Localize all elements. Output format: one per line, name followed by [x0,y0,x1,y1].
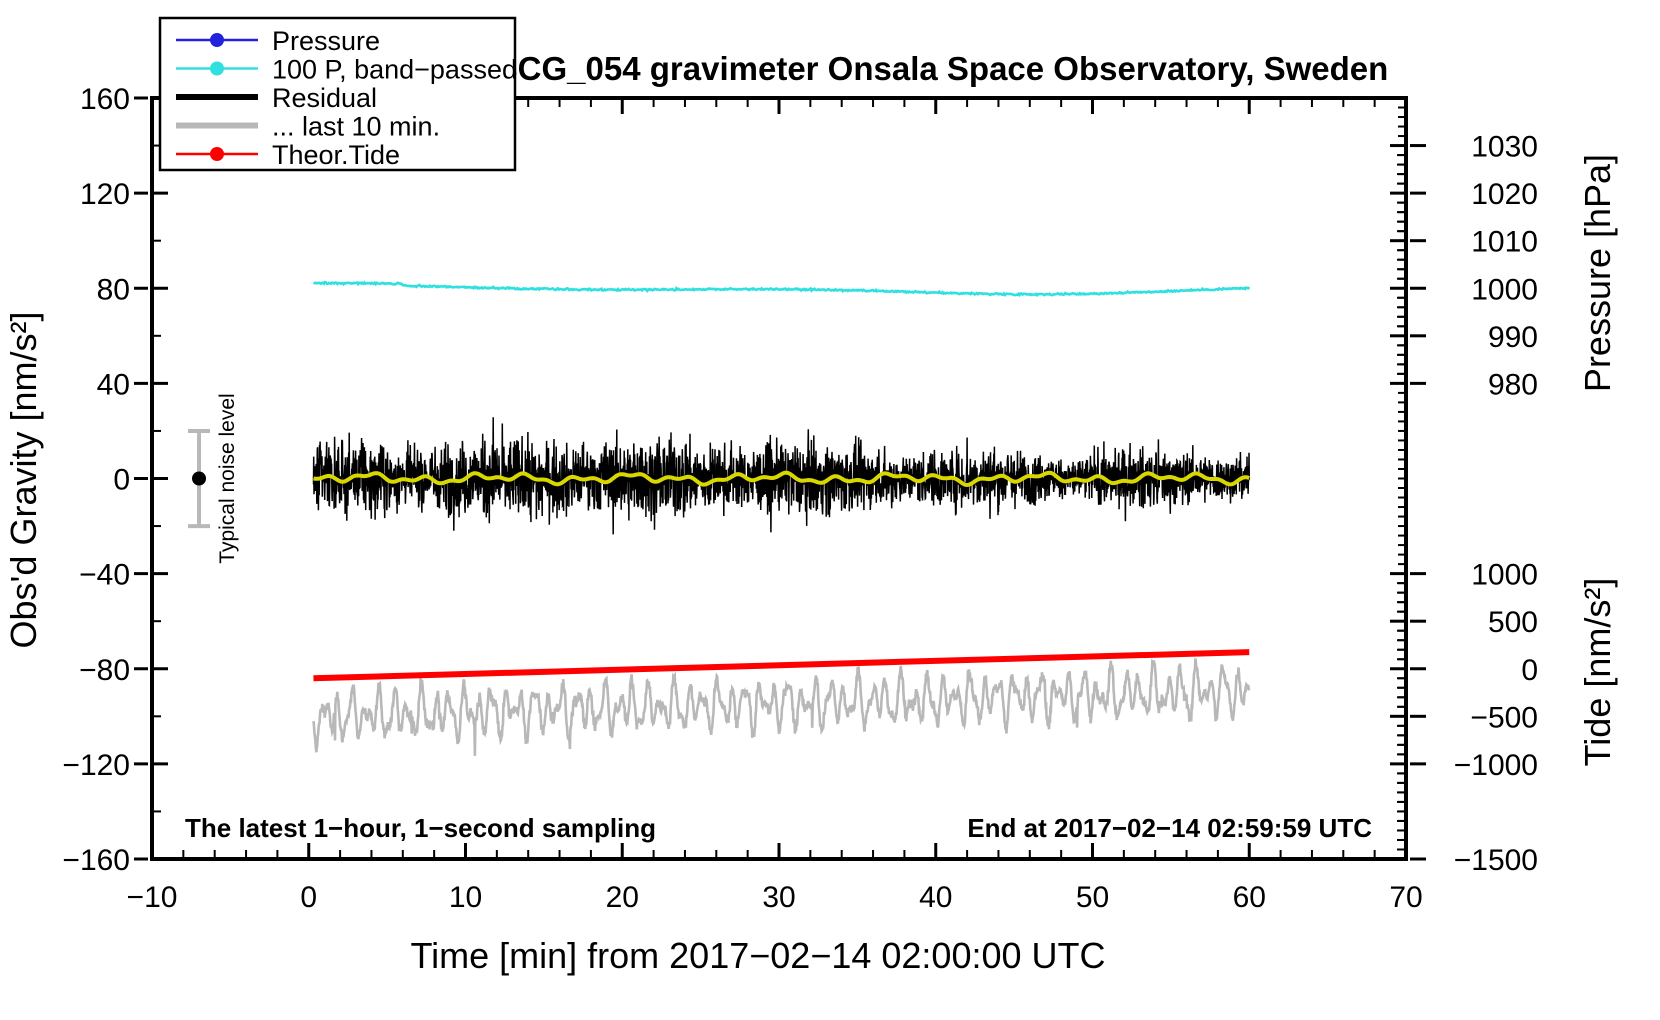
x-tick-label: 30 [762,881,795,914]
y-tick-label: 120 [80,178,130,211]
y-axis-title: Obs'd Gravity [nm/s²] [3,312,44,649]
x-tick-label: −10 [127,881,178,914]
y-tick-label: 160 [80,83,130,116]
legend-marker [210,147,224,161]
x-tick-label: 70 [1389,881,1422,914]
end-time-note: End at 2017−02−14 02:59:59 UTC [967,813,1372,843]
y-tick-label: 40 [97,368,130,401]
noise-center-dot [192,472,206,486]
legend-marker [210,62,224,76]
x-axis-title: Time [min] from 2017−02−14 02:00:00 UTC [410,935,1105,976]
gravimeter-chart-figure: −10010203040506070 16012080400−40−80−120… [0,0,1660,1020]
tide-tick-label: 500 [1488,606,1538,639]
tide-tick-label: 1000 [1471,559,1538,592]
x-tick-label: 20 [606,881,639,914]
pressure-tick-label: 1010 [1471,226,1538,259]
legend-label: 100 P, band−passed [272,55,517,85]
tide-tick-label: −500 [1470,701,1538,734]
y-axis-tick-labels: 16012080400−40−80−120−160 [62,83,130,877]
x-tick-label: 40 [919,881,952,914]
legend-marker [210,33,224,47]
legend-label: Pressure [272,26,380,56]
legend: Pressure100 P, band−passedResidual... la… [160,18,517,170]
y-tick-label: −160 [62,844,130,877]
tide-axis-title: Tide [nm/s²] [1577,578,1618,767]
chart-title: SCG_054 gravimeter Onsala Space Observat… [496,50,1389,87]
pressure-axis-title: Pressure [hPa] [1577,154,1618,392]
pressure-tick-label: 980 [1488,368,1538,401]
x-axis-tick-labels: −10010203040506070 [127,881,1423,914]
right-axis-tick-labels: 103010201010100099098010005000−500−1000−… [1454,131,1538,877]
pressure-tick-label: 990 [1488,321,1538,354]
chart-canvas: −10010203040506070 16012080400−40−80−120… [0,0,1660,1020]
tide-tick-label: −1000 [1454,749,1538,782]
noise-level-label: Typical noise level [216,393,239,563]
pressure-tick-label: 1000 [1471,273,1538,306]
typical-noise-level-annotation: Typical noise level [188,393,239,563]
tide-tick-label: −1500 [1454,844,1538,877]
legend-label: Residual [272,83,377,113]
series-pressure-bandpassed [314,282,1250,295]
sampling-note: The latest 1−hour, 1−second sampling [185,813,656,843]
y-tick-label: −40 [79,559,130,592]
y-tick-label: −80 [79,654,130,687]
data-traces [313,282,1249,756]
x-tick-label: 10 [449,881,482,914]
x-tick-label: 50 [1076,881,1109,914]
pressure-tick-label: 1030 [1471,131,1538,164]
y-tick-label: 80 [97,273,130,306]
x-tick-label: 60 [1233,881,1266,914]
pressure-tick-label: 1020 [1471,178,1538,211]
legend-label: ... last 10 min. [272,112,440,142]
tide-tick-label: 0 [1521,654,1538,687]
legend-label: Theor.Tide [272,140,400,170]
y-tick-label: −120 [62,749,130,782]
y-tick-label: 0 [113,464,130,497]
x-tick-label: 0 [300,881,317,914]
